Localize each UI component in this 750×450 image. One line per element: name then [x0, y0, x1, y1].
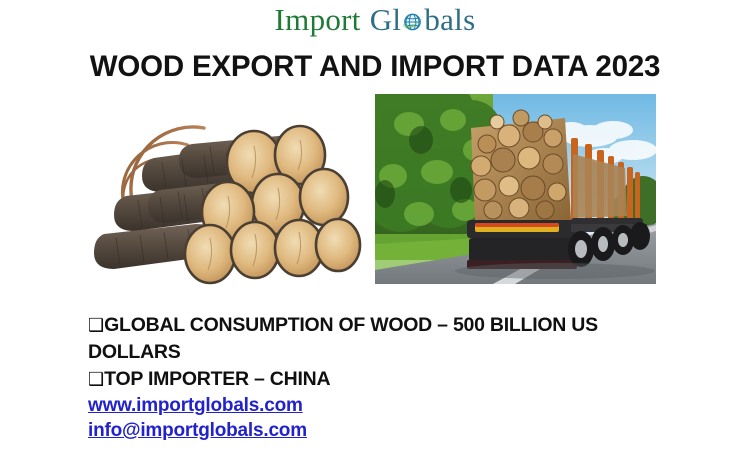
contact-links: www.importglobals.com info@importglobals… [88, 393, 307, 443]
list-item-label: TOP IMPORTER – CHINA [104, 368, 330, 390]
page-title: WOOD EXPORT AND IMPORT DATA 2023 [0, 50, 750, 84]
brand-name-globals-prefix: Gl [370, 2, 402, 37]
checkbox-bullet-icon: ❑ [88, 369, 104, 390]
poster-canvas: ImportGl bals WOOD EXPORT AND IMPORT DAT… [0, 0, 750, 450]
website-link[interactable]: www.importglobals.com [88, 393, 303, 418]
brand-logo[interactable]: ImportGl bals [0, 2, 750, 38]
checkbox-bullet-icon: ❑ [88, 315, 104, 336]
email-link[interactable]: info@importglobals.com [88, 418, 307, 443]
list-item-label: GLOBAL CONSUMPTION OF WOOD – 500 BILLION… [88, 314, 598, 363]
globe-icon [400, 9, 425, 34]
brand-name-import: Import [275, 2, 361, 37]
key-facts-list: ❑GLOBAL CONSUMPTION OF WOOD – 500 BILLIO… [88, 312, 648, 393]
logging-truck-photo [375, 94, 656, 284]
list-item: ❑TOP IMPORTER – CHINA [88, 366, 648, 393]
brand-name-globals-suffix: bals [424, 2, 475, 37]
wood-logs-illustration [92, 100, 362, 290]
list-item: ❑GLOBAL CONSUMPTION OF WOOD – 500 BILLIO… [88, 312, 648, 366]
